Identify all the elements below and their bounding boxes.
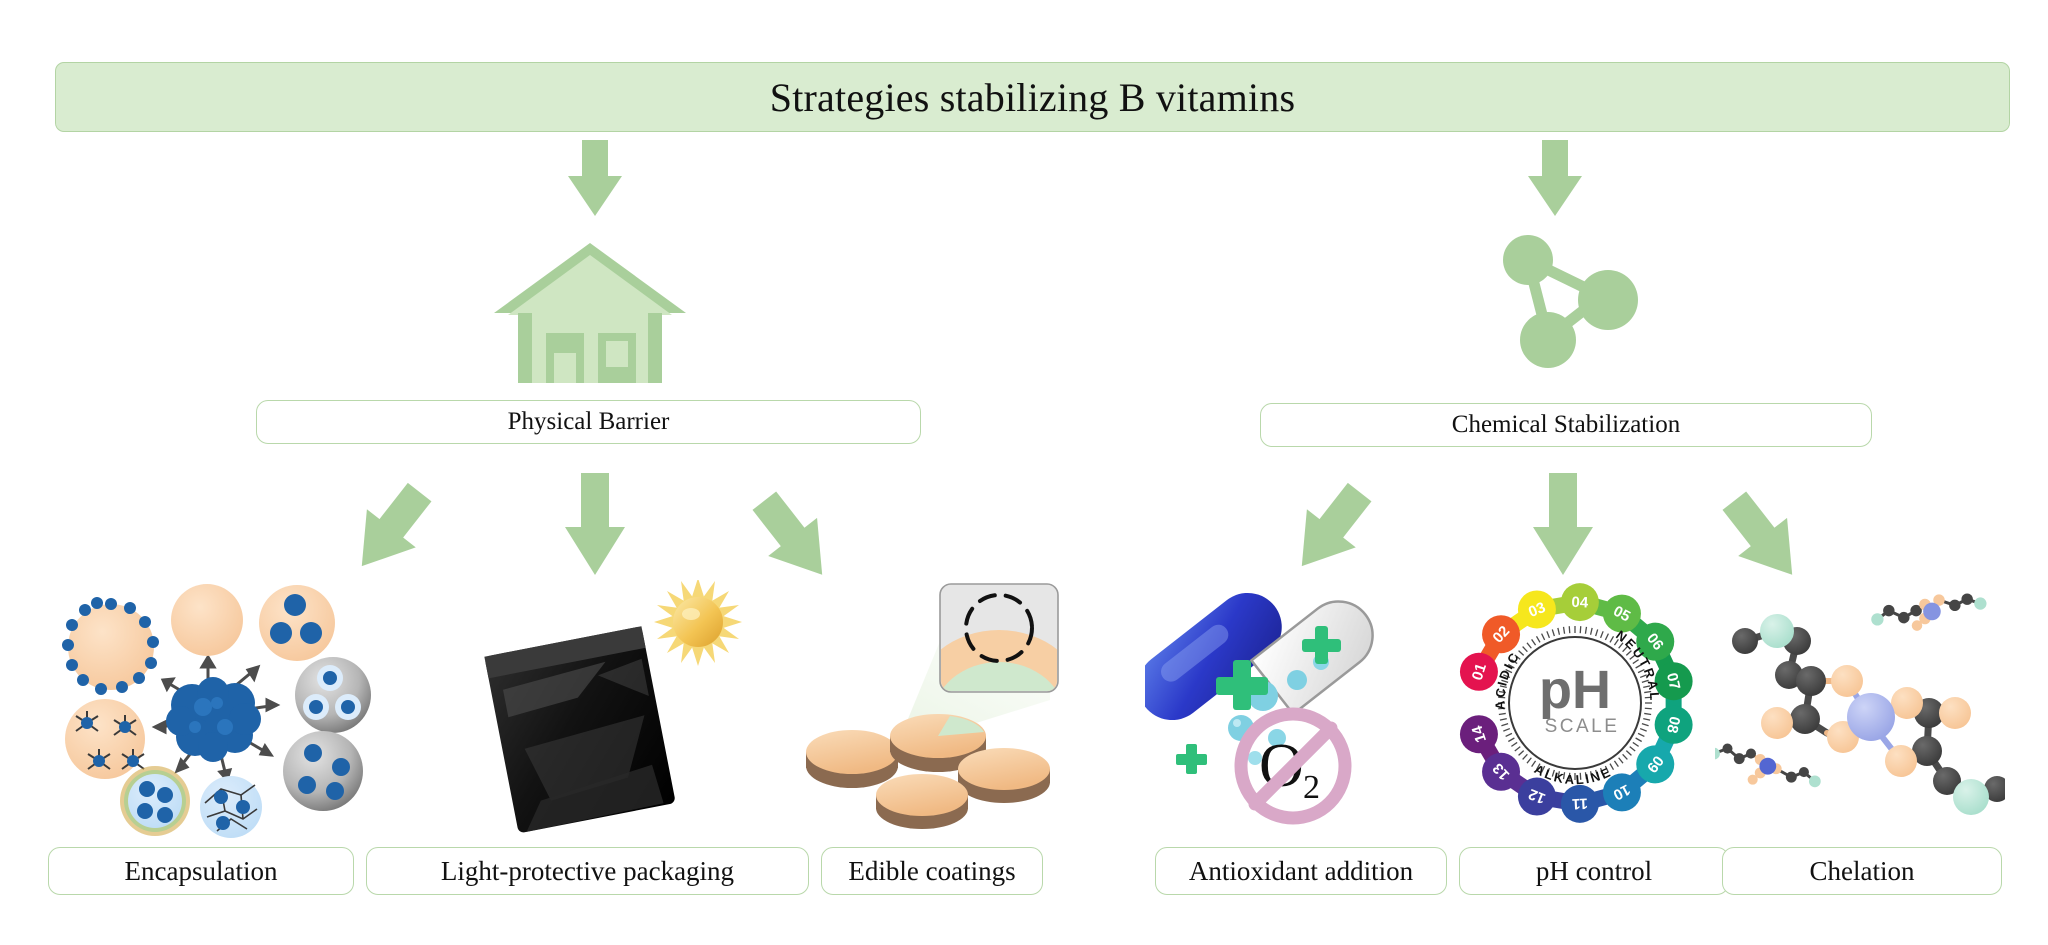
branch-label-physical-barrier[interactable]: Physical Barrier	[256, 400, 921, 444]
leaf-label-encapsulation-text: Encapsulation	[125, 856, 278, 887]
leaf-label-chelation-text: Chelation	[1810, 856, 1915, 887]
ph-step-label-11: 11	[1572, 795, 1589, 813]
leaf-label-chelation[interactable]: Chelation	[1722, 847, 2002, 895]
ph-center-primary: pH	[1539, 660, 1611, 720]
diagram-canvas: Strategies stabilizing B vitamins Physic…	[0, 0, 2048, 945]
leaf-label-ph-control[interactable]: pH control	[1459, 847, 1729, 895]
leaf-label-light-protective-packaging-text: Light-protective packaging	[441, 856, 734, 887]
molecule-node-link-icon	[1490, 228, 1640, 378]
page-title: Strategies stabilizing B vitamins	[770, 74, 1295, 121]
opaque-pouch-and-sun-icon	[470, 580, 760, 840]
leaf-label-ph-control-text: pH control	[1536, 856, 1652, 887]
capsule-no-oxygen-icon: O 2	[1145, 588, 1410, 838]
leaf-label-edible-coatings[interactable]: Edible coatings	[821, 847, 1043, 895]
branch-label-chemical-stabilization[interactable]: Chemical Stabilization	[1260, 403, 1872, 447]
ph-scale-wheel-icon: 0102030405060708091011121314 ACIDIC NEUT…	[1450, 578, 1700, 828]
arrow-chemical-to-phcontrol	[1513, 473, 1613, 583]
oxygen-subscript: 2	[1303, 769, 1320, 806]
leaf-label-edible-coatings-text: Edible coatings	[848, 856, 1015, 887]
arrow-physical-to-encapsulation	[315, 480, 475, 590]
arrow-chemical-to-chelation	[1690, 480, 1850, 590]
branch-label-physical-barrier-text: Physical Barrier	[508, 408, 670, 436]
leaf-label-encapsulation[interactable]: Encapsulation	[48, 847, 354, 895]
arrow-title-to-chemical	[1500, 140, 1610, 220]
arrow-title-to-physical	[540, 140, 650, 220]
encapsulation-carriers-icon	[45, 575, 375, 840]
arrow-physical-to-lightpackaging	[545, 473, 645, 583]
leaf-label-antioxidant-addition[interactable]: Antioxidant addition	[1155, 847, 1447, 895]
opaque-pouch-icon	[484, 626, 675, 833]
leaf-label-light-protective-packaging[interactable]: Light-protective packaging	[366, 847, 809, 895]
tablet-group	[806, 714, 1050, 829]
branch-label-chemical-stabilization-text: Chemical Stabilization	[1452, 411, 1680, 439]
sun-icon	[654, 580, 742, 666]
house-icon	[490, 235, 690, 385]
arrow-chemical-to-antioxidant	[1255, 480, 1415, 590]
no-oxygen-icon: O 2	[1241, 714, 1345, 818]
ph-center-secondary: SCALE	[1545, 716, 1620, 737]
metal-chelate-complex-icon	[1715, 585, 2005, 835]
leaf-label-antioxidant-addition-text: Antioxidant addition	[1189, 856, 1413, 887]
coated-tablets-magnifier-icon	[800, 572, 1070, 834]
page-title-banner: Strategies stabilizing B vitamins	[55, 62, 2010, 132]
ph-step-label-04: 04	[1571, 594, 1589, 612]
